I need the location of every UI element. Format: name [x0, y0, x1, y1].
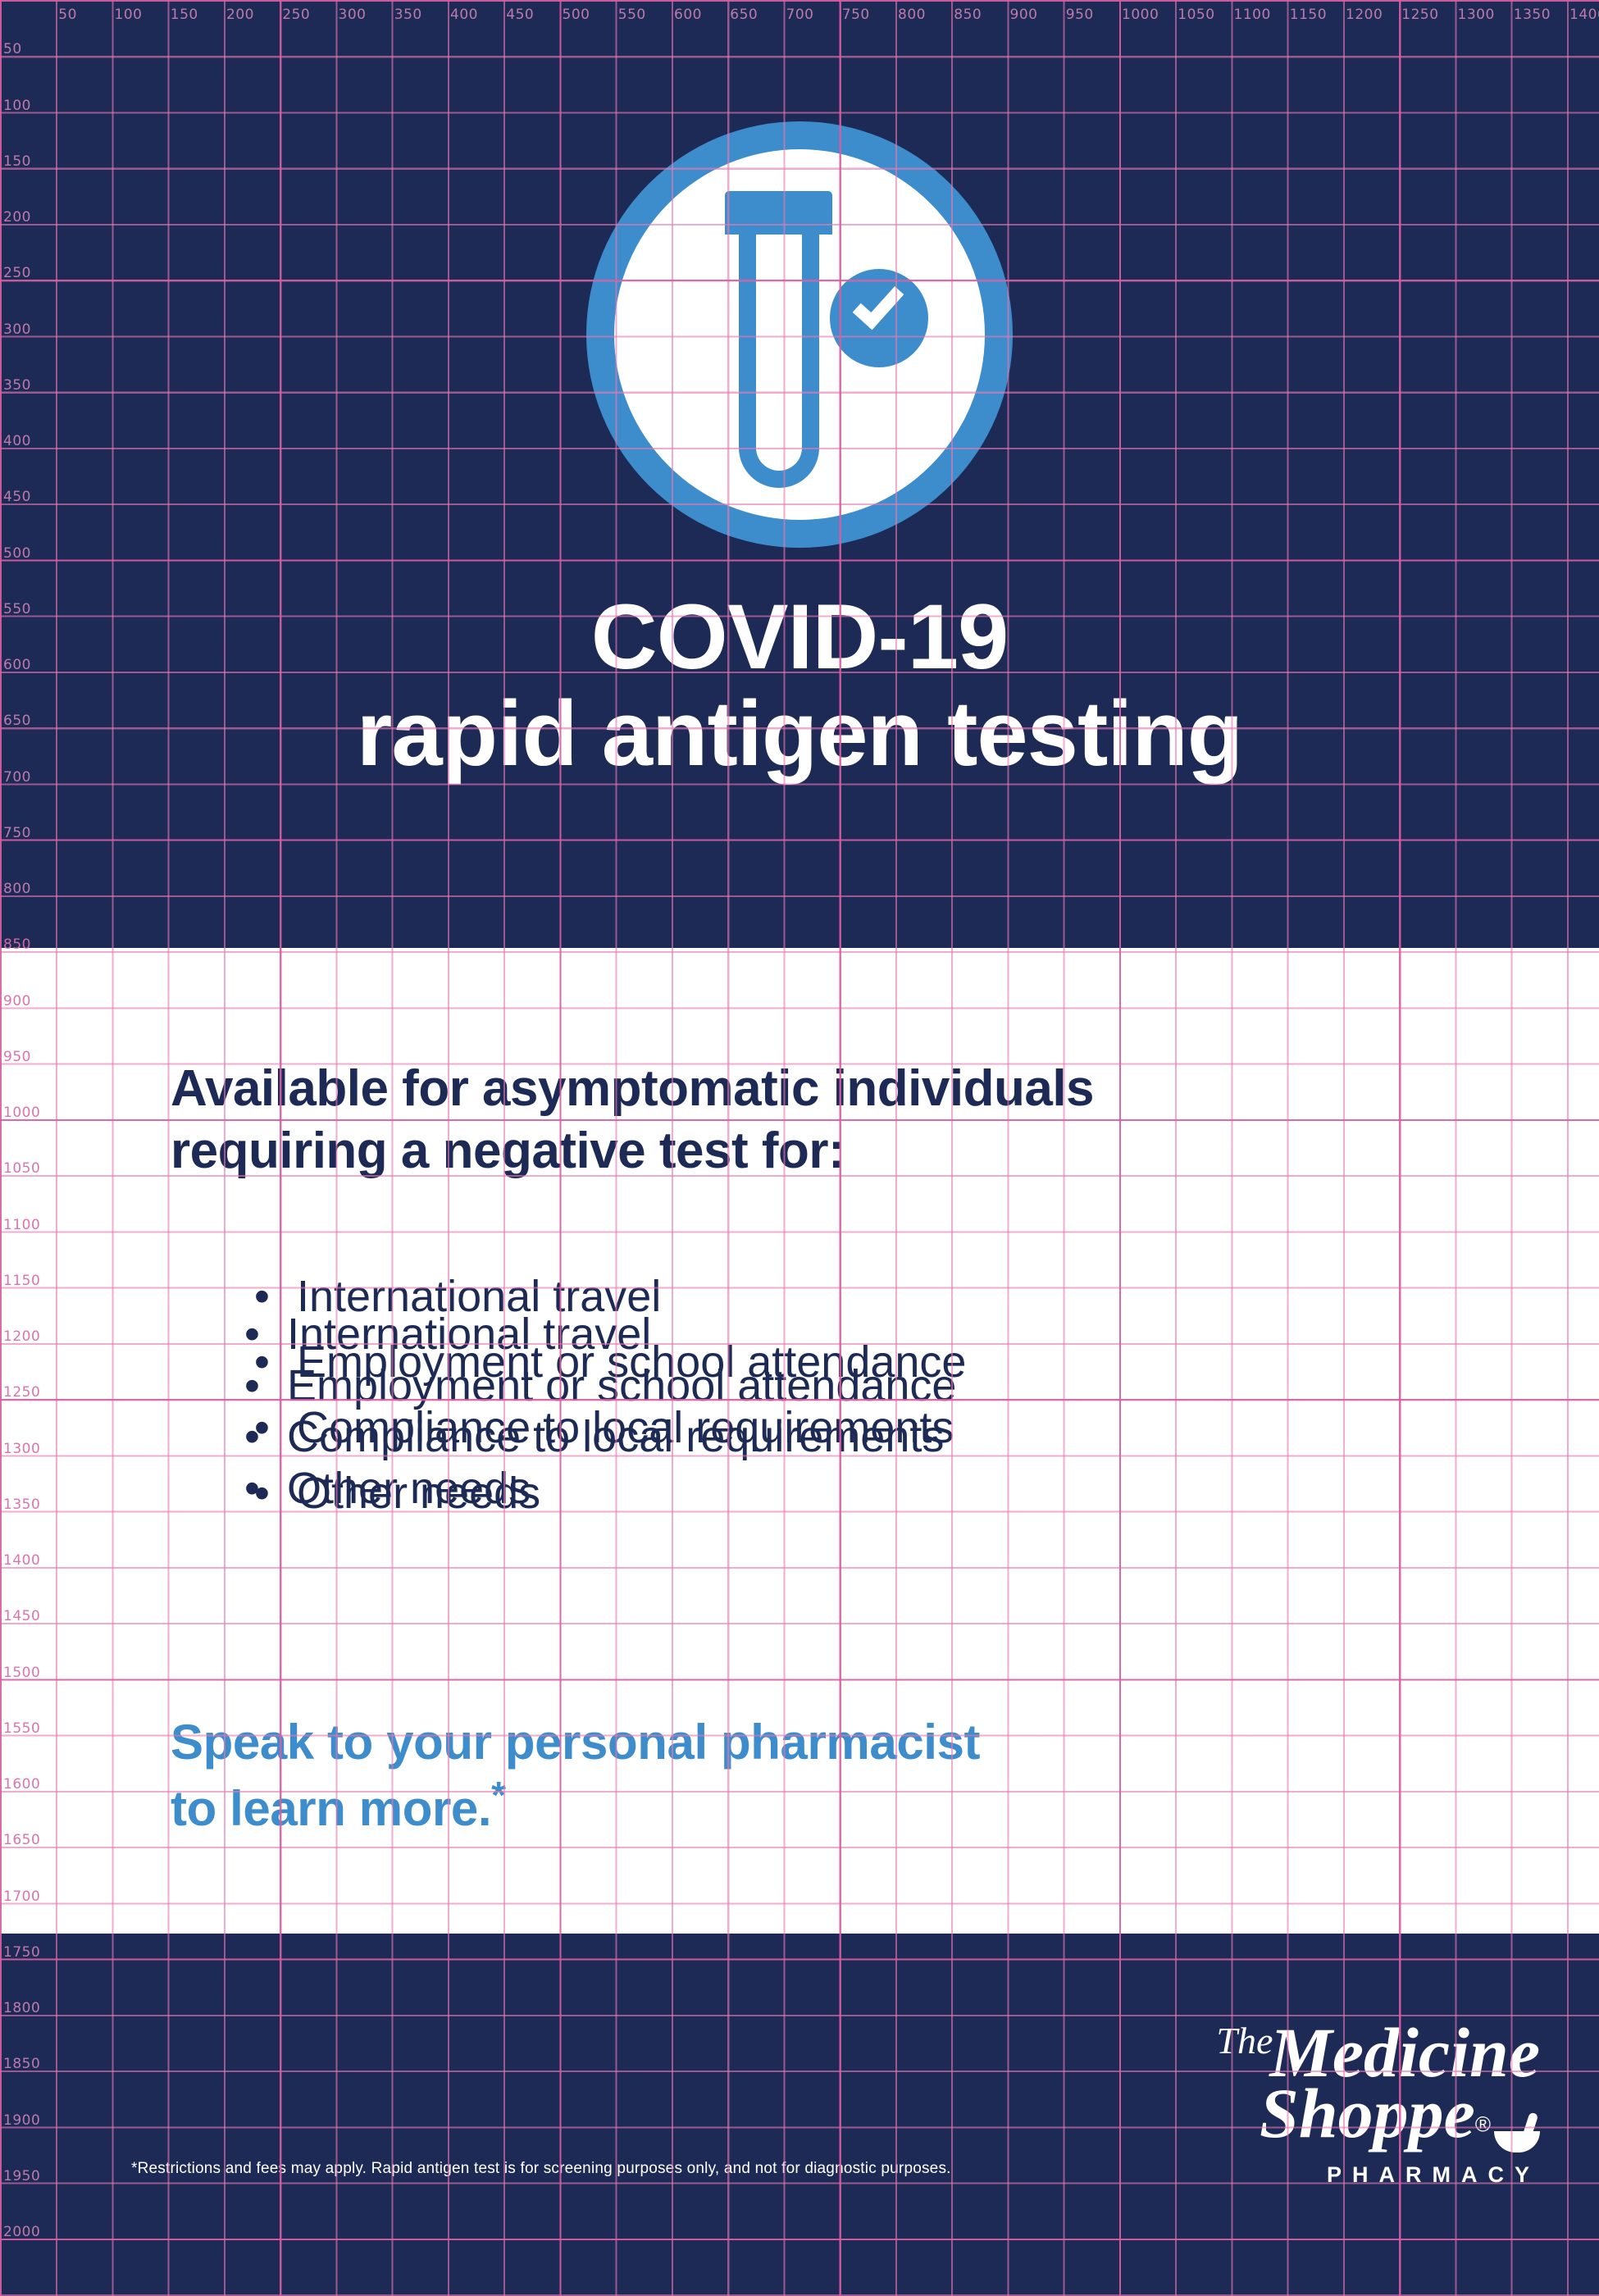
logo-shoppe: Shoppe — [1260, 2074, 1475, 2152]
brand-logo: TheMedicine Shoppe® PHARMACY — [1114, 2017, 1540, 2188]
page-title: COVID-19 rapid antigen testing — [0, 589, 1599, 781]
mortar-and-pestle-icon — [1494, 2110, 1540, 2152]
lede-line-1: Available for asymptomatic individuals — [171, 1058, 1499, 1120]
lede-line-2: requiring a negative test for: — [171, 1120, 1499, 1182]
logo-row-2: Shoppe® — [1114, 2078, 1540, 2157]
cta-line-2-text: to learn more. — [171, 1781, 491, 1836]
check-circle-icon — [830, 269, 928, 367]
list-item: International travel — [244, 1309, 1474, 1360]
registered-mark-icon: ® — [1475, 2112, 1491, 2137]
list-item: Compliance to local requirements — [244, 1411, 1474, 1463]
test-tube-check-icon — [586, 121, 1013, 548]
list-item: Employment or school attendance — [244, 1360, 1474, 1412]
test-tube-body-icon — [739, 229, 819, 488]
check-mark-icon — [853, 277, 904, 330]
logo-pharmacy: PHARMACY — [1114, 2162, 1540, 2188]
lede-text: Available for asymptomatic individuals r… — [171, 1058, 1499, 1182]
eligibility-list-overlay: International travel Employment or schoo… — [244, 1309, 1474, 1515]
list-item: Other needs — [244, 1463, 1474, 1515]
title-line-2: rapid antigen testing — [0, 686, 1599, 782]
logo-the: The — [1216, 2022, 1273, 2060]
title-line-1: COVID-19 — [591, 585, 1009, 688]
footnote-text: *Restrictions and fees may apply. Rapid … — [131, 2160, 951, 2178]
cta-asterisk: * — [491, 1774, 506, 1816]
cta-line-1: Speak to your personal pharmacist — [171, 1712, 1237, 1772]
cta-text: Speak to your personal pharmacist to lea… — [171, 1712, 1237, 1838]
poster-canvas: COVID-19 rapid antigen testing Available… — [0, 0, 1599, 2296]
cta-line-2: to learn more.* — [171, 1772, 1237, 1838]
